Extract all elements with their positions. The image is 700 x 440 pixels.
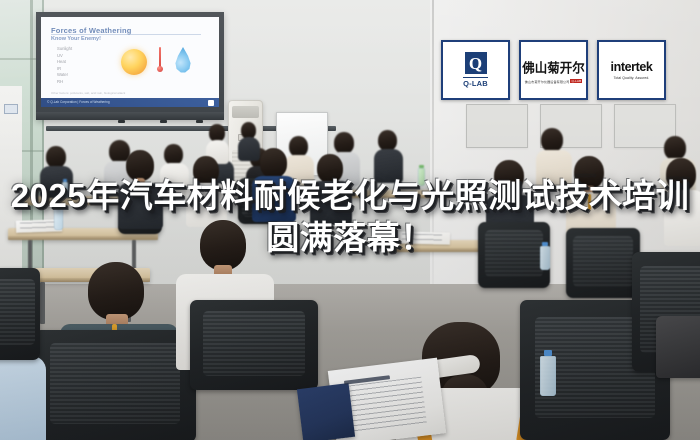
q-lab-wordmark: Q-LAB (463, 77, 488, 88)
slide-bullet-list: Sunlight UV Heat IR Water RH (57, 46, 113, 86)
logo-q-lab[interactable]: Q Q-LAB (441, 40, 510, 100)
logo-intertek[interactable]: intertek Total Quality. Assured. (597, 40, 666, 100)
foshan-tagline-text: 佛山市菊开尔仪器设备有限公司 (525, 79, 570, 84)
marker (160, 120, 167, 123)
thermometer-icon (157, 47, 163, 77)
intertek-tagline: Total Quality. Assured. (614, 76, 650, 80)
backpack (656, 316, 700, 378)
wall-panel (466, 104, 528, 148)
banner-title-line-1: 2025年汽车材料耐候老化与光照测试技术培训 (0, 175, 700, 217)
office-chair (190, 300, 318, 390)
attendee-arm (0, 356, 46, 440)
slide-logo-icon (208, 100, 214, 106)
slide-bullet: UV (57, 53, 113, 60)
slide-rule (51, 34, 201, 35)
slide-footnote: Other factors: pollutants, salt, acid ra… (51, 91, 125, 95)
slide-bullet: Sunlight (57, 46, 113, 53)
sun-icon (121, 49, 147, 75)
slide-bullet: RH (57, 79, 113, 86)
office-chair (0, 268, 40, 360)
banner-title: 2025年汽车材料耐候老化与光照测试技术培训 圆满落幕！ (0, 175, 700, 259)
slide-bullet: Water (57, 72, 113, 79)
sponsor-logos: Q Q-LAB 佛山菊开尔 佛山市菊开尔仪器设备有限公司 Q-LAB inter… (441, 40, 666, 100)
wall-sign (4, 104, 18, 114)
q-lab-mark-icon: Q (465, 52, 487, 74)
foshan-tagline-badge: Q-LAB (570, 79, 582, 83)
projection-screen: Forces of Weathering Know Your Enemy! Su… (36, 12, 224, 120)
foshan-tagline: 佛山市菊开尔仪器设备有限公司 Q-LAB (525, 79, 583, 84)
slide-forces-of-weathering: Forces of Weathering Know Your Enemy! Su… (41, 17, 219, 107)
foshan-wordmark: 佛山菊开尔 (522, 56, 585, 76)
intertek-wordmark: intertek (611, 60, 653, 74)
slide-footer-text: © Q-Lab Corporation | Forces of Weatheri… (47, 100, 110, 104)
marker (118, 120, 125, 123)
slide-footer-band: © Q-Lab Corporation | Forces of Weatheri… (41, 98, 219, 107)
handout-booklet-cover (297, 383, 355, 440)
logo-foshan-juekaier[interactable]: 佛山菊开尔 佛山市菊开尔仪器设备有限公司 Q-LAB (519, 40, 588, 100)
banner-title-line-2: 圆满落幕！ (0, 217, 700, 259)
slide-bullet: IR (57, 66, 113, 73)
desk-leg (40, 282, 45, 324)
slide-bullet: Heat (57, 59, 113, 66)
marker (196, 120, 203, 123)
projection-screen-base (36, 112, 224, 120)
event-banner: Forces of Weathering Know Your Enemy! Su… (0, 0, 700, 440)
water-bottle (540, 356, 556, 396)
water-droplet-icon (174, 47, 192, 73)
office-chair (34, 330, 196, 440)
projection-screen-surface: Forces of Weathering Know Your Enemy! Su… (41, 17, 219, 107)
slide-subtitle: Know Your Enemy! (51, 36, 101, 42)
